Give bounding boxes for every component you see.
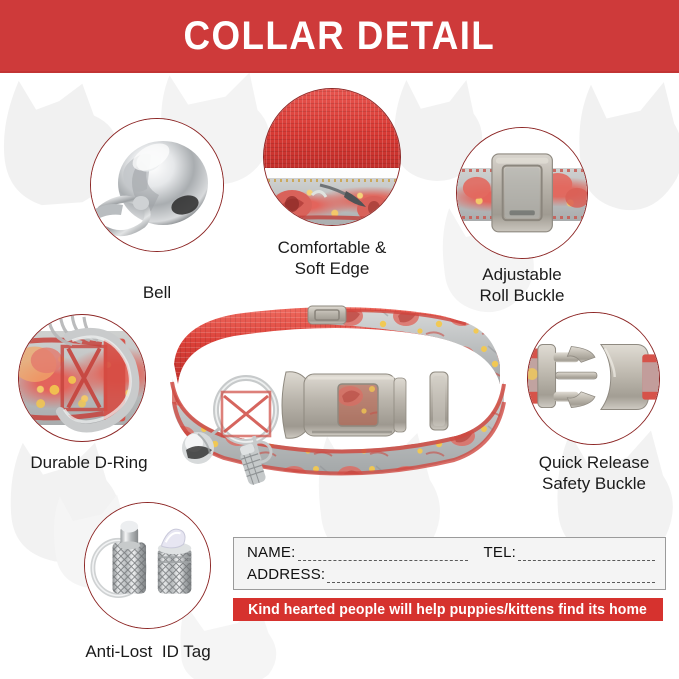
tel-input[interactable] <box>518 549 655 561</box>
id-card-row-name: NAME: TEL: <box>247 544 655 561</box>
product-image-collar <box>168 300 513 490</box>
roll-buckle-circle <box>456 127 588 259</box>
tel-label: TEL: <box>484 544 516 561</box>
bell-circle <box>90 118 224 252</box>
id-card-message-banner: Kind hearted people will help puppies/ki… <box>233 598 663 621</box>
infographic-page: COLLAR DETAIL <box>0 0 679 679</box>
roll-buckle-icon <box>456 127 588 259</box>
name-label: NAME: <box>247 544 296 561</box>
d-ring-icon <box>18 314 146 442</box>
callout-label-soft-edge: Comfortable & Soft Edge <box>252 237 412 279</box>
collar-quick-release-buckle <box>282 372 406 439</box>
quick-release-circle <box>527 312 660 445</box>
page-title: COLLAR DETAIL <box>184 14 496 59</box>
address-input[interactable] <box>327 571 655 583</box>
id-card-panel: NAME: TEL: ADDRESS: <box>233 537 666 590</box>
callout-label-id-tag: Anti-Lost ID Tag <box>52 641 244 662</box>
address-label: ADDRESS: <box>247 566 325 583</box>
id-card-row-address: ADDRESS: <box>247 566 655 583</box>
bell-icon <box>90 118 224 252</box>
id-card-message-text: Kind hearted people will help puppies/ki… <box>249 602 648 618</box>
id-tag-capsule-icon <box>84 502 211 629</box>
name-input[interactable] <box>298 549 468 561</box>
collar-slider <box>430 372 448 430</box>
webbing-edge-icon <box>263 88 401 226</box>
callout-label-quick-release: Quick Release Safety Buckle <box>510 452 678 494</box>
d-ring-circle <box>18 314 146 442</box>
callout-label-d-ring: Durable D-Ring <box>0 452 178 473</box>
header-divider <box>0 71 679 73</box>
collar-roll-buckle <box>308 306 346 324</box>
side-release-buckle-icon <box>527 312 660 445</box>
id-tag-circle <box>84 502 211 629</box>
soft-edge-circle <box>263 88 401 226</box>
header-banner: COLLAR DETAIL <box>0 0 679 73</box>
